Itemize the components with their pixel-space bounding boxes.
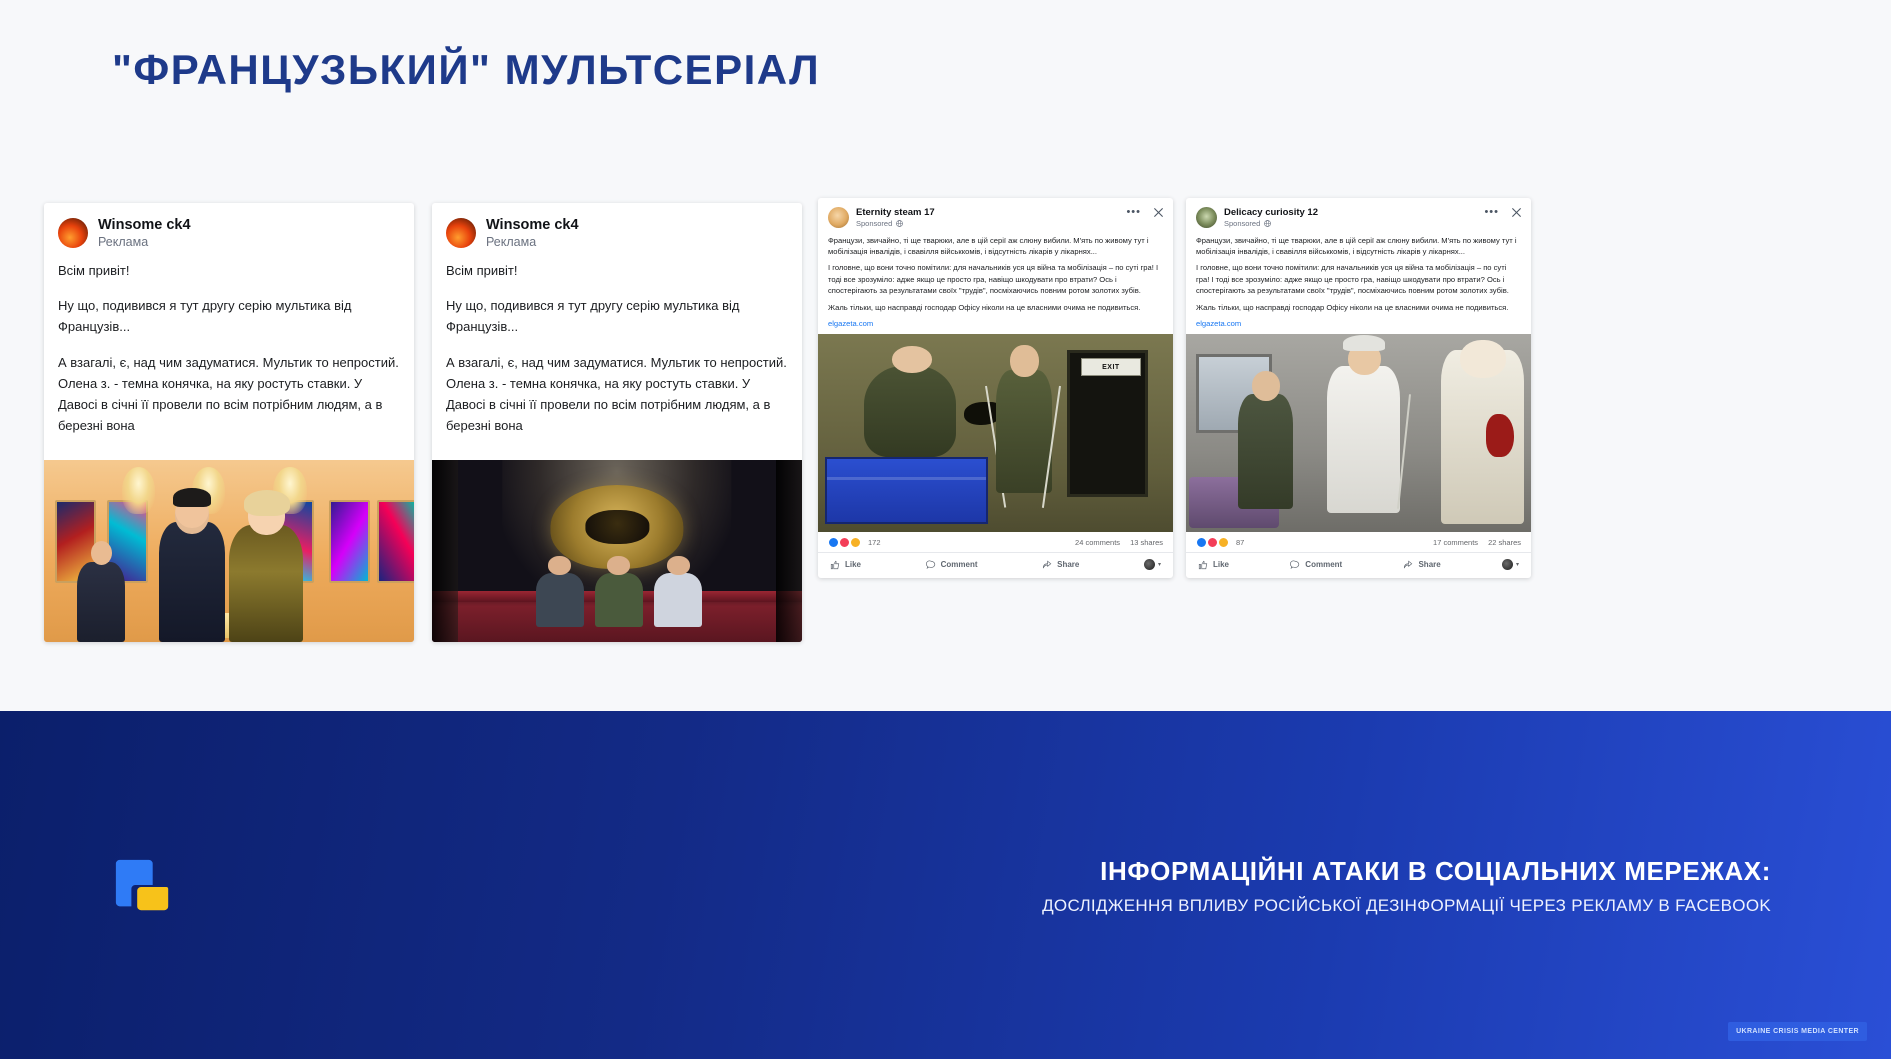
account-name: Eternity steam 17 [856,207,935,219]
account-name: Winsome ck4 [486,216,579,234]
reaction-icons[interactable]: 87 [1196,537,1244,548]
facebook-post-card-4[interactable]: Delicacy curiosity 12 Sponsored ••• [1186,198,1531,578]
post-paragraph: І головне, що вони точно помітили: для н… [1196,262,1521,296]
post-link[interactable]: elgazeta.com [828,318,1163,329]
post-image[interactable]: EXIT [818,334,1173,532]
footer-badge: UKRAINE CRISIS MEDIA CENTER [1728,1022,1867,1041]
post-link[interactable]: elgazeta.com [1196,318,1521,329]
comment-bubble-icon [1290,560,1300,570]
post-header: Winsome ck4 Реклама [44,203,414,256]
account-name: Winsome ck4 [98,216,191,234]
thumbs-up-icon [830,560,840,570]
reaction-love-icon [839,537,850,548]
share-button[interactable]: Share [1403,560,1440,570]
sponsored-label: Реклама [486,234,536,250]
post-paragraph: Ну що, подивився я тут другу серію мульт… [58,295,400,337]
post-header-actions: ••• [1126,207,1164,218]
post-header-actions: ••• [1484,207,1522,218]
globe-icon [896,220,903,227]
profile-switcher[interactable]: ▾ [1502,559,1519,570]
post-actions: Like Comment Share ▾ [818,553,1173,578]
profile-switcher[interactable]: ▾ [1144,559,1161,570]
avatar [446,218,476,248]
share-arrow-icon [1042,560,1052,570]
post-paragraph: Всім привіт! [446,260,788,281]
engagement-summary: 172 24 comments 13 shares [818,532,1173,553]
sponsored-label-row: Sponsored [856,219,935,229]
sponsored-label: Sponsored [856,219,892,229]
illustration-hospital [1186,334,1531,532]
share-count[interactable]: 22 shares [1488,538,1521,547]
post-paragraph: Французи, звичайно, ті ще тварюки, але в… [1196,235,1521,258]
close-icon[interactable] [1511,207,1522,218]
post-paragraph: Ну що, подивився я тут другу серію мульт… [446,295,788,337]
footer-banner: ІНФОРМАЦІЙНІ АТАКИ В СОЦІАЛЬНИХ МЕРЕЖАХ:… [0,711,1891,1059]
post-body: Всім привіт! Ну що, подивився я тут друг… [44,256,414,459]
like-button[interactable]: Like [1198,560,1229,570]
text-truncation-fade [432,444,802,460]
post-body: Французи, звичайно, ті ще тварюки, але в… [1186,233,1531,335]
post-image[interactable] [432,460,802,642]
post-actions: Like Comment Share ▾ [1186,553,1531,578]
mini-avatar [1502,559,1513,570]
like-button[interactable]: Like [830,560,861,570]
account-name: Delicacy curiosity 12 [1224,207,1318,219]
comment-count[interactable]: 17 comments [1433,538,1478,547]
share-button-label: Share [1418,560,1440,569]
sponsored-label-row: Реклама [486,234,579,250]
post-paragraph: А взагалі, є, над чим задуматися. Мульти… [58,352,400,436]
avatar [1196,207,1217,228]
chevron-down-icon: ▾ [1158,561,1161,568]
globe-icon [1264,220,1271,227]
comment-button-label: Comment [941,560,978,569]
post-cards-container: Winsome ck4 Реклама Всім привіт! Ну що, … [0,195,1891,615]
post-image[interactable] [44,460,414,642]
engagement-summary: 87 17 comments 22 shares [1186,532,1531,553]
reaction-haha-icon [1218,537,1229,548]
reaction-count: 87 [1236,538,1244,547]
footer-subtitle: ДОСЛІДЖЕННЯ ВПЛИВУ РОСІЙСЬКОЇ ДЕЗІНФОРМА… [1042,895,1771,915]
facebook-post-card-3[interactable]: Eternity steam 17 Sponsored ••• [818,198,1173,578]
thumbs-up-icon [1198,560,1208,570]
sponsored-label-row: Sponsored [1224,219,1318,229]
comment-button[interactable]: Comment [926,560,978,570]
comment-button[interactable]: Comment [1290,560,1342,570]
post-header: Delicacy curiosity 12 Sponsored ••• [1186,198,1531,233]
post-header: Winsome ck4 Реклама [432,203,802,256]
sponsored-label: Реклама [98,234,148,250]
more-options-icon[interactable]: ••• [1126,207,1141,218]
footer-title: ІНФОРМАЦІЙНІ АТАКИ В СОЦІАЛЬНИХ МЕРЕЖАХ: [1042,855,1771,888]
comment-count[interactable]: 24 comments [1075,538,1120,547]
post-header: Eternity steam 17 Sponsored ••• [818,198,1173,233]
avatar [58,218,88,248]
page-title: "ФРАНЦУЗЬКИЙ" МУЛЬТСЕРІАЛ [112,46,820,94]
share-count[interactable]: 13 shares [1130,538,1163,547]
avatar [828,207,849,228]
exit-sign: EXIT [1081,358,1141,376]
post-paragraph: Жаль тільки, що насправді господар Офісу… [1196,302,1521,313]
more-options-icon[interactable]: ••• [1484,207,1499,218]
close-icon[interactable] [1153,207,1164,218]
facebook-post-card-2[interactable]: Winsome ck4 Реклама Всім привіт! Ну що, … [432,203,802,642]
reaction-like-icon [828,537,839,548]
post-paragraph: Всім привіт! [58,260,400,281]
reaction-like-icon [1196,537,1207,548]
reaction-icons[interactable]: 172 [828,537,881,548]
like-button-label: Like [845,560,861,569]
sponsored-label-row: Реклама [98,234,191,250]
post-paragraph: Жаль тільки, що насправді господар Офісу… [828,302,1163,313]
share-button-label: Share [1057,560,1079,569]
post-paragraph: А взагалі, є, над чим задуматися. Мульти… [446,352,788,436]
comment-button-label: Comment [1305,560,1342,569]
illustration-ballroom [44,460,414,642]
illustration-throne [432,460,802,642]
post-body: Всім привіт! Ну що, подивився я тут друг… [432,256,802,459]
share-button[interactable]: Share [1042,560,1079,570]
post-paragraph: Французи, звичайно, ті ще тварюки, але в… [828,235,1163,258]
post-paragraph: І головне, що вони точно помітили: для н… [828,262,1163,296]
post-body: Французи, звичайно, ті ще тварюки, але в… [818,233,1173,335]
reaction-haha-icon [850,537,861,548]
post-image[interactable] [1186,334,1531,532]
chevron-down-icon: ▾ [1516,561,1519,568]
like-button-label: Like [1213,560,1229,569]
reaction-count: 172 [868,538,881,547]
illustration-bank: EXIT [818,334,1173,532]
reaction-love-icon [1207,537,1218,548]
sponsored-label: Sponsored [1224,219,1260,229]
facebook-post-card-1[interactable]: Winsome ck4 Реклама Всім привіт! Ну що, … [44,203,414,642]
text-truncation-fade [44,444,414,460]
mini-avatar [1144,559,1155,570]
share-arrow-icon [1403,560,1413,570]
comment-bubble-icon [926,560,936,570]
footer-text-block: ІНФОРМАЦІЙНІ АТАКИ В СОЦІАЛЬНИХ МЕРЕЖАХ:… [0,855,1891,916]
